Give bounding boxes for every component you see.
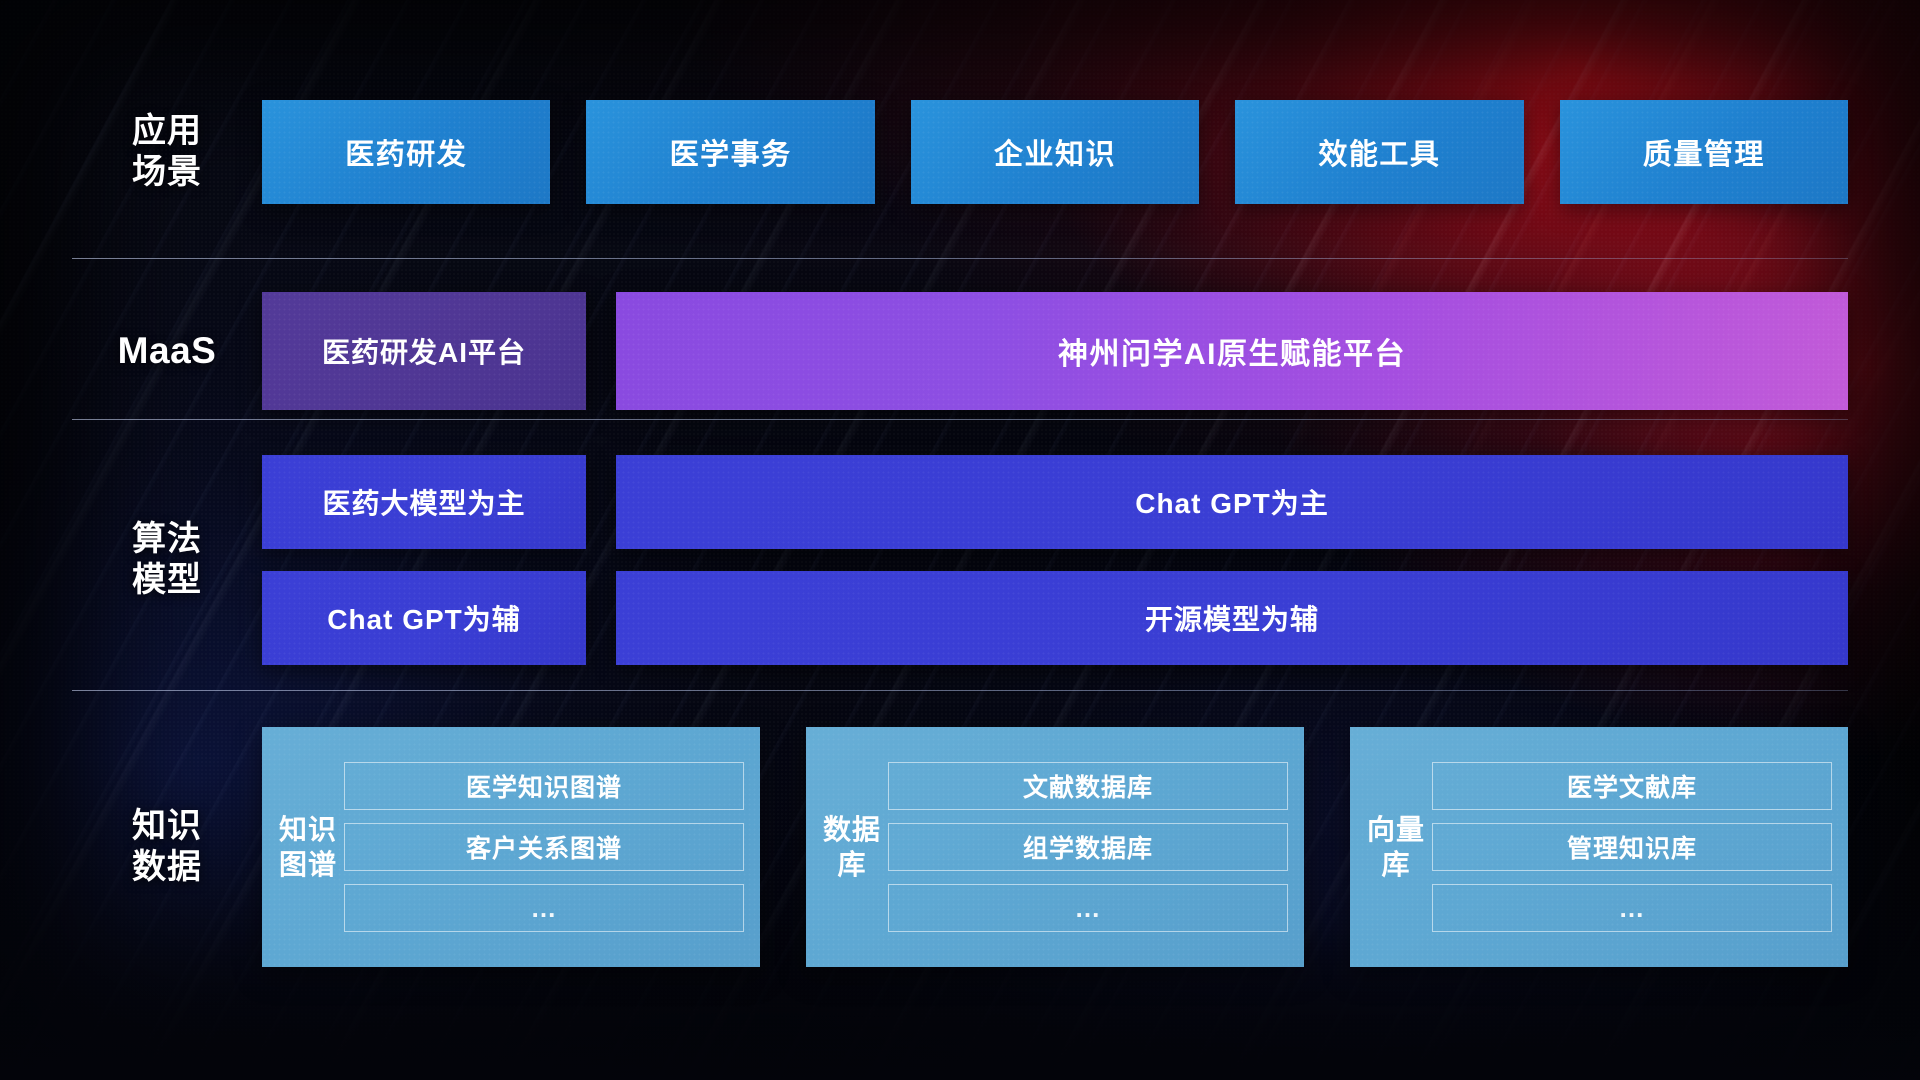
knowledge-item-management-knowledge-store[interactable]: 管理知识库 bbox=[1432, 823, 1832, 871]
maas-card-shenzhou-wenxue-platform[interactable]: 神州问学AI原生赋能平台 bbox=[616, 292, 1848, 410]
app-card-label: 医药研发 bbox=[345, 131, 467, 173]
knowledge-item-medical-literature-store[interactable]: 医学文献库 bbox=[1432, 762, 1832, 810]
knowledge-item-label: … bbox=[1075, 893, 1102, 924]
knowledge-card-title: 知识图谱 bbox=[272, 741, 344, 953]
knowledge-item-label: 管理知识库 bbox=[1567, 829, 1697, 865]
algorithm-line-primary: 医药大模型为主 Chat GPT为主 bbox=[262, 455, 1848, 549]
knowledge-card-title: 数据库 bbox=[816, 741, 888, 953]
knowledge-card-vector-store[interactable]: 向量库 医学文献库 管理知识库 … bbox=[1350, 727, 1848, 967]
knowledge-card-item-list: 医学文献库 管理知识库 … bbox=[1432, 741, 1832, 953]
row-algorithm-models: 算法 模型 医药大模型为主 Chat GPT为主 Chat GPT为辅 开源模型… bbox=[72, 455, 1848, 665]
app-card-pharma-rd[interactable]: 医药研发 bbox=[262, 100, 550, 204]
knowledge-item-label: 医学知识图谱 bbox=[466, 768, 622, 804]
knowledge-item-label: … bbox=[531, 893, 558, 924]
knowledge-item-label: 组学数据库 bbox=[1023, 829, 1153, 865]
row-label-knowledge-data: 知识 数据 bbox=[72, 806, 262, 889]
knowledge-card-item-list: 文献数据库 组学数据库 … bbox=[888, 741, 1288, 953]
knowledge-cards-container: 知识图谱 医学知识图谱 客户关系图谱 … 数据库 文献数据库 组学数据库 … bbox=[262, 727, 1848, 967]
architecture-diagram: 应用 场景 医药研发 医学事务 企业知识 效能工具 质量管理 MaaS 医药研发… bbox=[0, 0, 1920, 1080]
algo-card-opensource-secondary[interactable]: 开源模型为辅 bbox=[616, 571, 1848, 665]
algorithm-cards-container: 医药大模型为主 Chat GPT为主 Chat GPT为辅 开源模型为辅 bbox=[262, 455, 1848, 665]
algo-card-label: 开源模型为辅 bbox=[1145, 598, 1319, 638]
knowledge-card-title: 向量库 bbox=[1360, 741, 1432, 953]
maas-card-label: 神州问学AI原生赋能平台 bbox=[1058, 329, 1406, 373]
knowledge-item-label: 医学文献库 bbox=[1567, 768, 1697, 804]
app-card-enterprise-knowledge[interactable]: 企业知识 bbox=[911, 100, 1199, 204]
row-knowledge-data: 知识 数据 知识图谱 医学知识图谱 客户关系图谱 … 数据库 bbox=[72, 727, 1848, 967]
algorithm-line-secondary: Chat GPT为辅 开源模型为辅 bbox=[262, 571, 1848, 665]
algo-card-label: Chat GPT为主 bbox=[1135, 482, 1329, 522]
row-label-application-scenarios: 应用 场景 bbox=[72, 111, 262, 194]
slide-canvas: 应用 场景 医药研发 医学事务 企业知识 效能工具 质量管理 MaaS 医药研发… bbox=[0, 0, 1920, 1080]
algo-card-label: Chat GPT为辅 bbox=[327, 598, 521, 638]
divider-algorithm-knowledge bbox=[72, 690, 1848, 691]
knowledge-item-omics-database[interactable]: 组学数据库 bbox=[888, 823, 1288, 871]
divider-application-maas bbox=[72, 258, 1848, 259]
knowledge-item-label: 客户关系图谱 bbox=[466, 829, 622, 865]
app-card-quality-management[interactable]: 质量管理 bbox=[1560, 100, 1848, 204]
knowledge-item-more[interactable]: … bbox=[888, 884, 1288, 932]
app-card-medical-affairs[interactable]: 医学事务 bbox=[586, 100, 874, 204]
maas-card-label: 医药研发AI平台 bbox=[322, 331, 526, 371]
app-card-label: 医学事务 bbox=[670, 131, 792, 173]
divider-maas-algorithm bbox=[72, 419, 1848, 420]
knowledge-item-customer-relation-graph[interactable]: 客户关系图谱 bbox=[344, 823, 744, 871]
knowledge-card-database[interactable]: 数据库 文献数据库 组学数据库 … bbox=[806, 727, 1304, 967]
app-card-label: 质量管理 bbox=[1643, 131, 1765, 173]
app-card-label: 企业知识 bbox=[994, 131, 1116, 173]
knowledge-item-label: 文献数据库 bbox=[1023, 768, 1153, 804]
row-maas: MaaS 医药研发AI平台 神州问学AI原生赋能平台 bbox=[72, 292, 1848, 410]
algo-card-label: 医药大模型为主 bbox=[322, 482, 525, 522]
row-label-maas: MaaS bbox=[72, 328, 262, 373]
app-card-label: 效能工具 bbox=[1318, 131, 1440, 173]
knowledge-item-medical-knowledge-graph[interactable]: 医学知识图谱 bbox=[344, 762, 744, 810]
algo-card-pharma-llm-primary[interactable]: 医药大模型为主 bbox=[262, 455, 586, 549]
application-cards-container: 医药研发 医学事务 企业知识 效能工具 质量管理 bbox=[262, 100, 1848, 204]
knowledge-item-literature-database[interactable]: 文献数据库 bbox=[888, 762, 1288, 810]
row-application-scenarios: 应用 场景 医药研发 医学事务 企业知识 效能工具 质量管理 bbox=[72, 100, 1848, 204]
maas-cards-container: 医药研发AI平台 神州问学AI原生赋能平台 bbox=[262, 292, 1848, 410]
maas-card-pharma-ai-platform[interactable]: 医药研发AI平台 bbox=[262, 292, 586, 410]
knowledge-card-knowledge-graph[interactable]: 知识图谱 医学知识图谱 客户关系图谱 … bbox=[262, 727, 760, 967]
row-label-algorithm-models: 算法 模型 bbox=[72, 519, 262, 602]
knowledge-item-more[interactable]: … bbox=[344, 884, 744, 932]
knowledge-item-label: … bbox=[1619, 893, 1646, 924]
algo-card-chatgpt-primary[interactable]: Chat GPT为主 bbox=[616, 455, 1848, 549]
app-card-efficiency-tools[interactable]: 效能工具 bbox=[1235, 100, 1523, 204]
knowledge-item-more[interactable]: … bbox=[1432, 884, 1832, 932]
algo-card-chatgpt-secondary[interactable]: Chat GPT为辅 bbox=[262, 571, 586, 665]
knowledge-card-item-list: 医学知识图谱 客户关系图谱 … bbox=[344, 741, 744, 953]
